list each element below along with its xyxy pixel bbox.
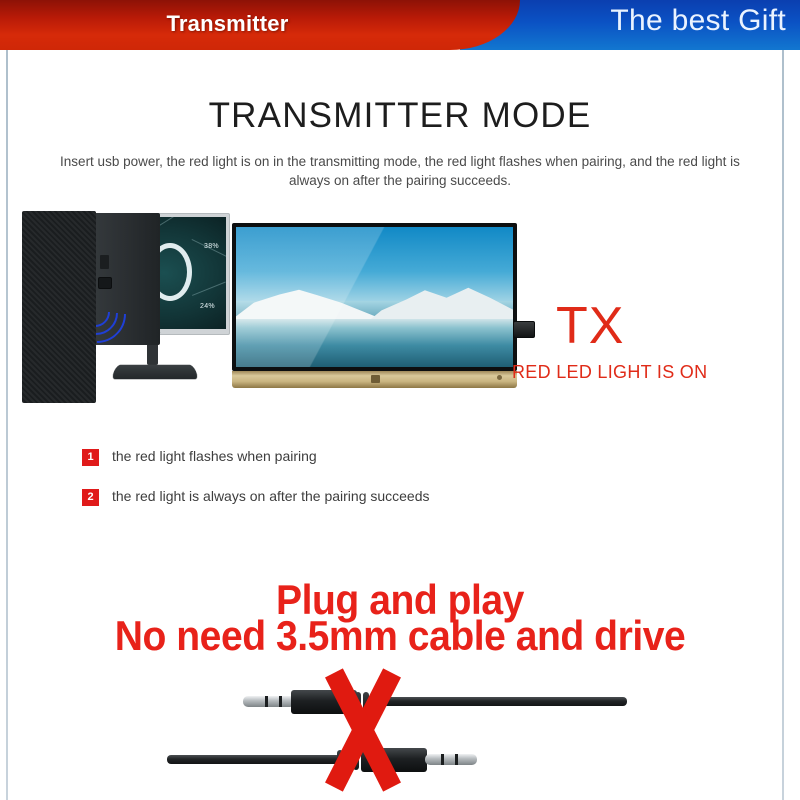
monitor-stand-base xyxy=(111,365,200,379)
cable-plug-tip xyxy=(425,754,477,765)
note-number-badge: 2 xyxy=(82,489,99,506)
tv-logo xyxy=(371,375,380,383)
tv-screen-glare xyxy=(236,227,513,367)
top-banner: Transmitter The best Gift xyxy=(0,0,800,52)
product-page: Transmitter The best Gift TRANSMITTER MO… xyxy=(0,0,800,800)
tv-screen xyxy=(236,227,513,367)
note-number-badge: 1 xyxy=(82,449,99,466)
tv-scene xyxy=(232,223,517,393)
cable-plug-band xyxy=(279,696,282,707)
cable-plug-band xyxy=(441,754,444,765)
banner-subtitle: The best Gift xyxy=(610,4,786,38)
pc-monitor-scene: 57% 38% 24% DELL xyxy=(22,205,230,405)
page-border-left xyxy=(6,50,8,800)
dashboard-percent-bottom: 24% xyxy=(200,303,215,310)
cross-out-mark xyxy=(301,672,429,788)
note-text: the red light flashes when pairing xyxy=(112,448,317,464)
section-heading: TRANSMITTER MODE xyxy=(0,96,800,136)
page-border-right xyxy=(782,50,784,800)
cable-plug-band xyxy=(265,696,268,707)
banner-title: Transmitter xyxy=(0,11,455,37)
usb-dongle xyxy=(513,321,535,338)
pc-tower xyxy=(22,211,96,403)
cable-plug-band xyxy=(455,754,458,765)
cable-illustration xyxy=(165,668,635,792)
cable-plug-tip xyxy=(243,696,295,707)
pc-drive-slot xyxy=(100,255,109,269)
tx-led-caption: RED LED LIGHT IS ON xyxy=(512,362,707,383)
note-text: the red light is always on after the pai… xyxy=(112,488,430,504)
promo-headline-line2: No need 3.5mm cable and drive xyxy=(28,612,772,660)
dashboard-percent-right: 38% xyxy=(204,243,219,250)
dashboard-ray xyxy=(192,282,226,296)
section-description: Insert usb power, the red light is on in… xyxy=(60,152,740,190)
tx-mode-label: TX xyxy=(556,296,624,356)
tv-bezel-stud xyxy=(497,375,502,380)
product-illustration: 57% 38% 24% DELL xyxy=(22,205,778,415)
